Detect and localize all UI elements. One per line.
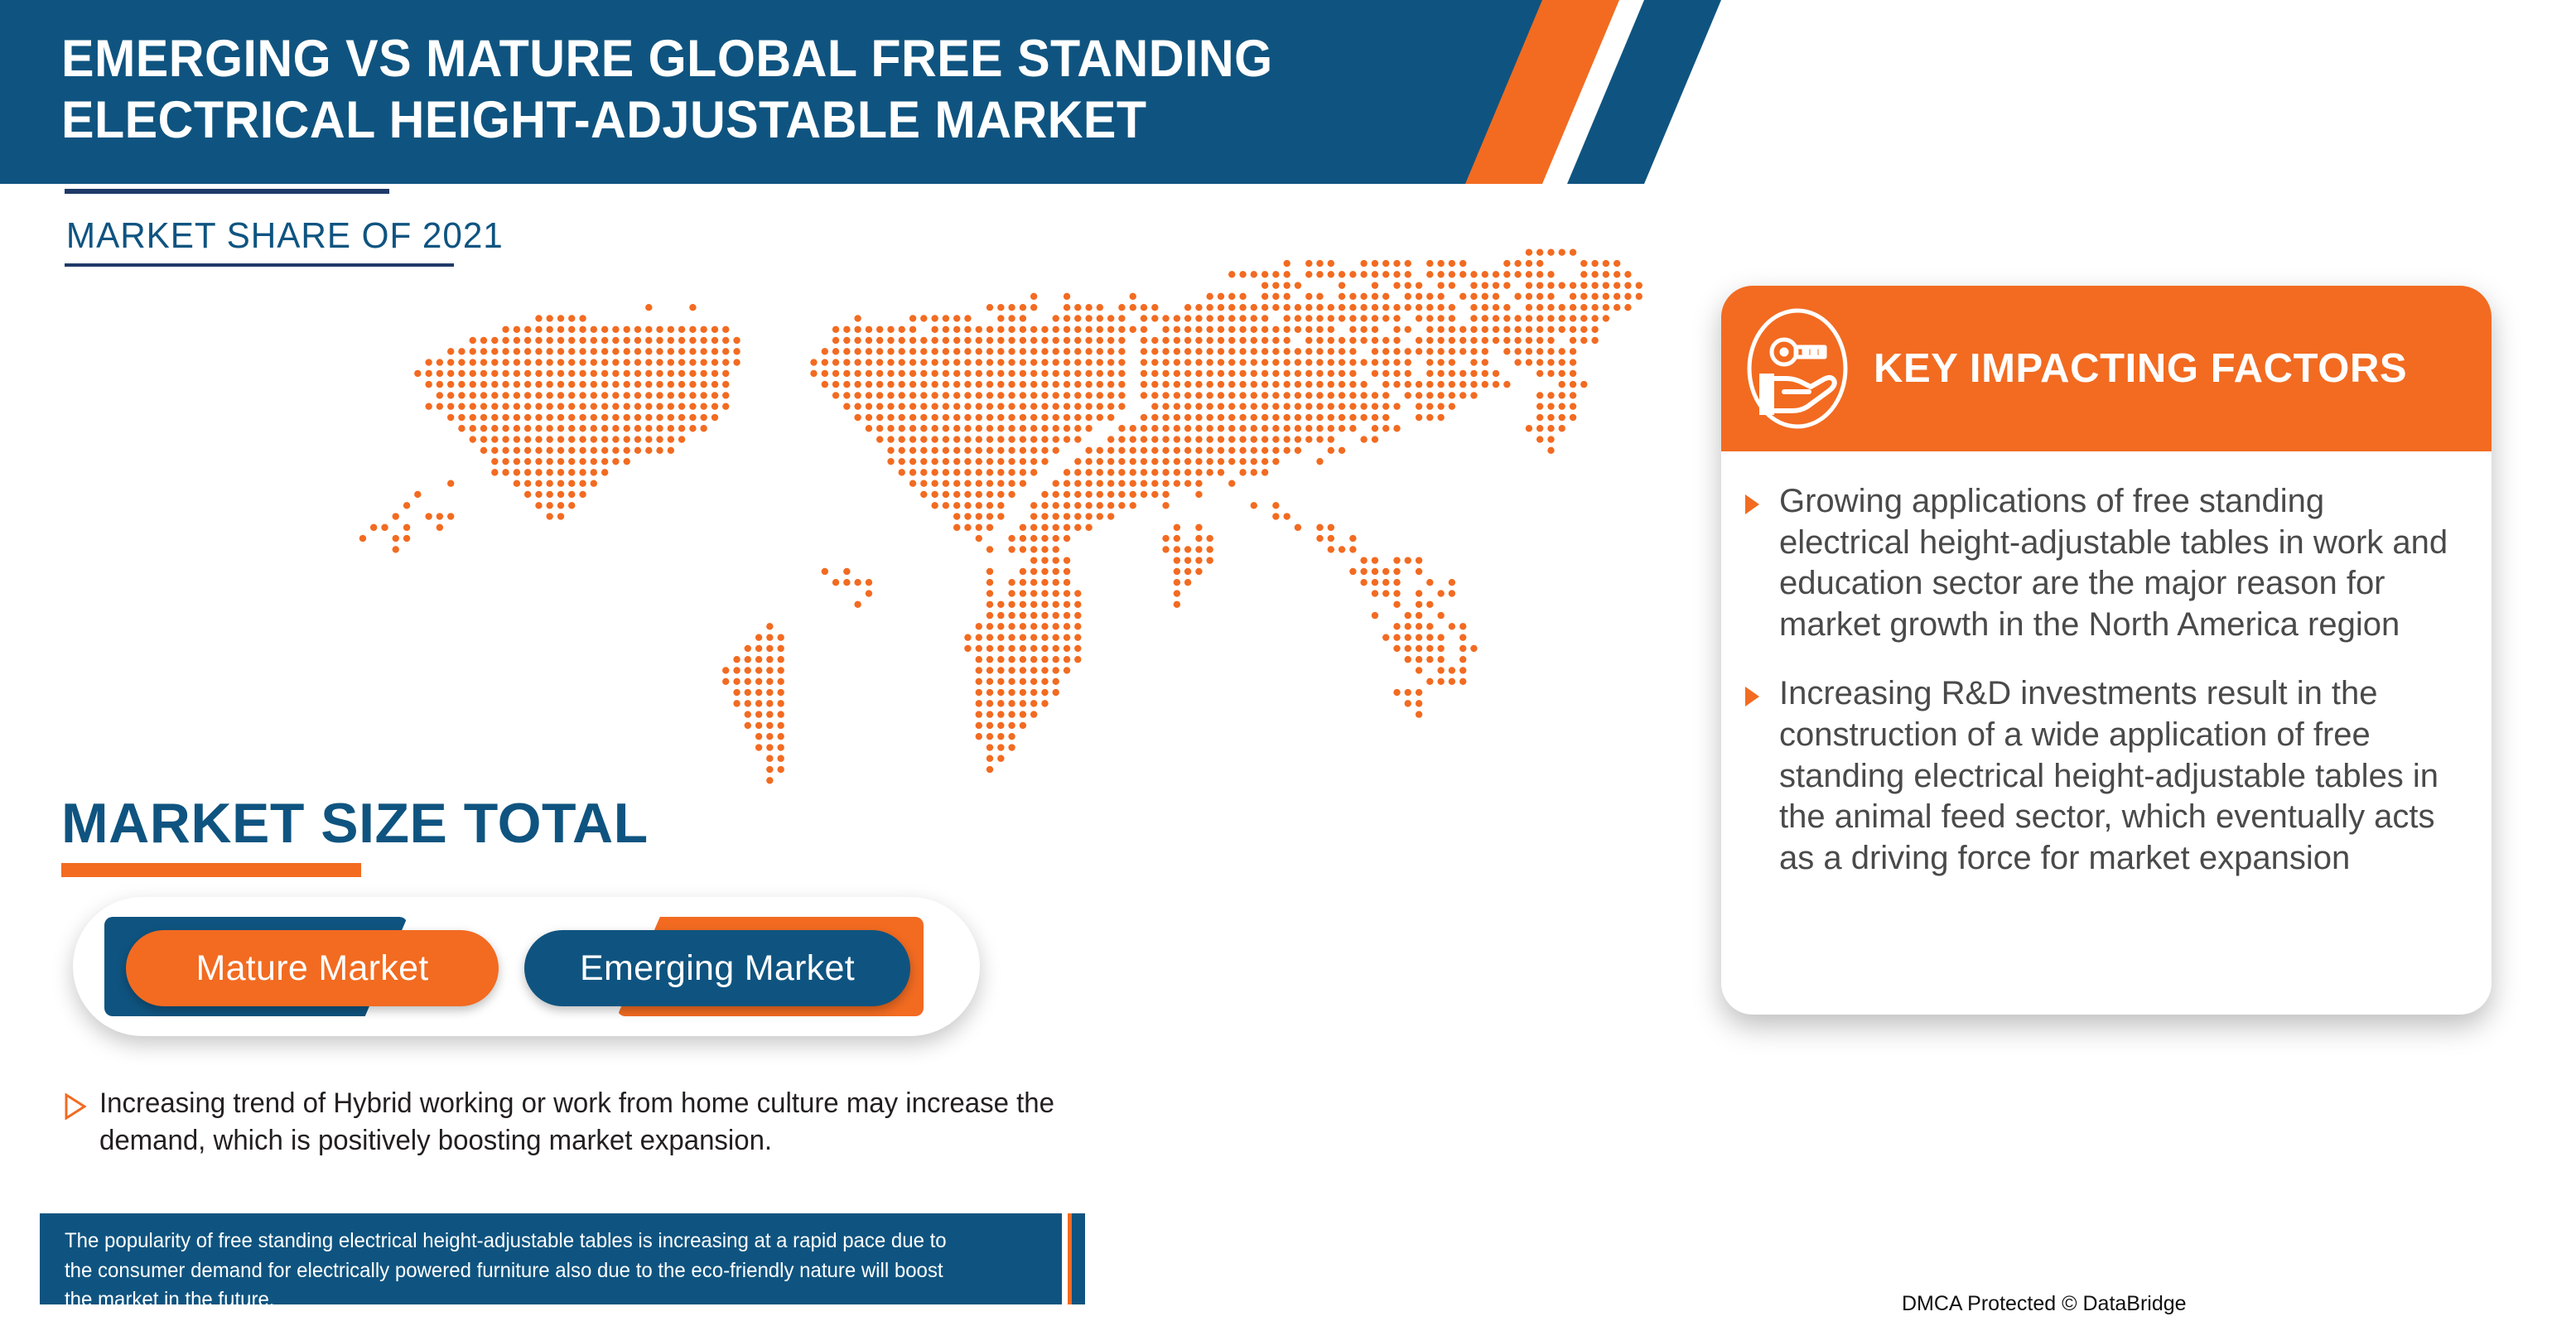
market-size-underline [61,863,361,877]
hand-holding-key-icon [1743,306,1852,432]
market-size-legend: Mature Market Emerging Market [73,897,980,1036]
legend-item-mature-market[interactable]: Mature Market [94,897,525,1036]
key-impacting-factors-header: KEY IMPACTING FACTORS [1721,286,2492,451]
triangle-bullet-icon [65,1093,86,1160]
world-map-dotted [248,248,1731,861]
key-factor-bullet-text: Growing applications of free standing el… [1779,481,2453,645]
market-size-title: MARKET SIZE TOTAL [61,795,649,851]
footer-divider-gap [1062,1213,1068,1304]
market-size-bullet-text: Increasing trend of Hybrid working or wo… [99,1085,1070,1160]
page-title: EMERGING VS MATURE GLOBAL FREE STANDING … [61,28,1369,152]
legend-label-emerging-market: Emerging Market [524,930,910,1006]
header-stripe-orange [1465,0,1619,184]
key-factor-bullet-text: Increasing R&D investments result in the… [1779,673,2453,879]
page-title-line-2: ELECTRICAL HEIGHT-ADJUSTABLE MARKET [61,89,1369,151]
key-impacting-factors-title: KEY IMPACTING FACTORS [1874,345,2407,392]
legend-label-mature-market: Mature Market [126,930,499,1006]
footer-accent-line [1068,1213,1072,1304]
triangle-bullet-icon [1743,685,1761,879]
market-size-bullet: Increasing trend of Hybrid working or wo… [65,1085,1100,1160]
key-impacting-factors-panel: KEY IMPACTING FACTORS Growing applicatio… [1721,286,2492,1015]
triangle-bullet-icon [1743,493,1761,645]
dmca-credit: DMCA Protected © DataBridge [1902,1292,2187,1316]
market-size-section: MARKET SIZE TOTAL [61,795,649,877]
key-factor-bullet: Increasing R&D investments result in the… [1743,673,2453,879]
page-title-line-1: EMERGING VS MATURE GLOBAL FREE STANDING [61,28,1369,89]
key-factor-bullet: Growing applications of free standing el… [1743,481,2453,645]
footer-callout: The popularity of free standing electric… [40,1213,1085,1304]
header-stripe-blue [1567,0,1721,184]
key-impacting-factors-body: Growing applications of free standing el… [1721,451,2492,879]
footer-callout-text: The popularity of free standing electric… [65,1227,951,1315]
legend-item-emerging-market[interactable]: Emerging Market [516,897,955,1036]
